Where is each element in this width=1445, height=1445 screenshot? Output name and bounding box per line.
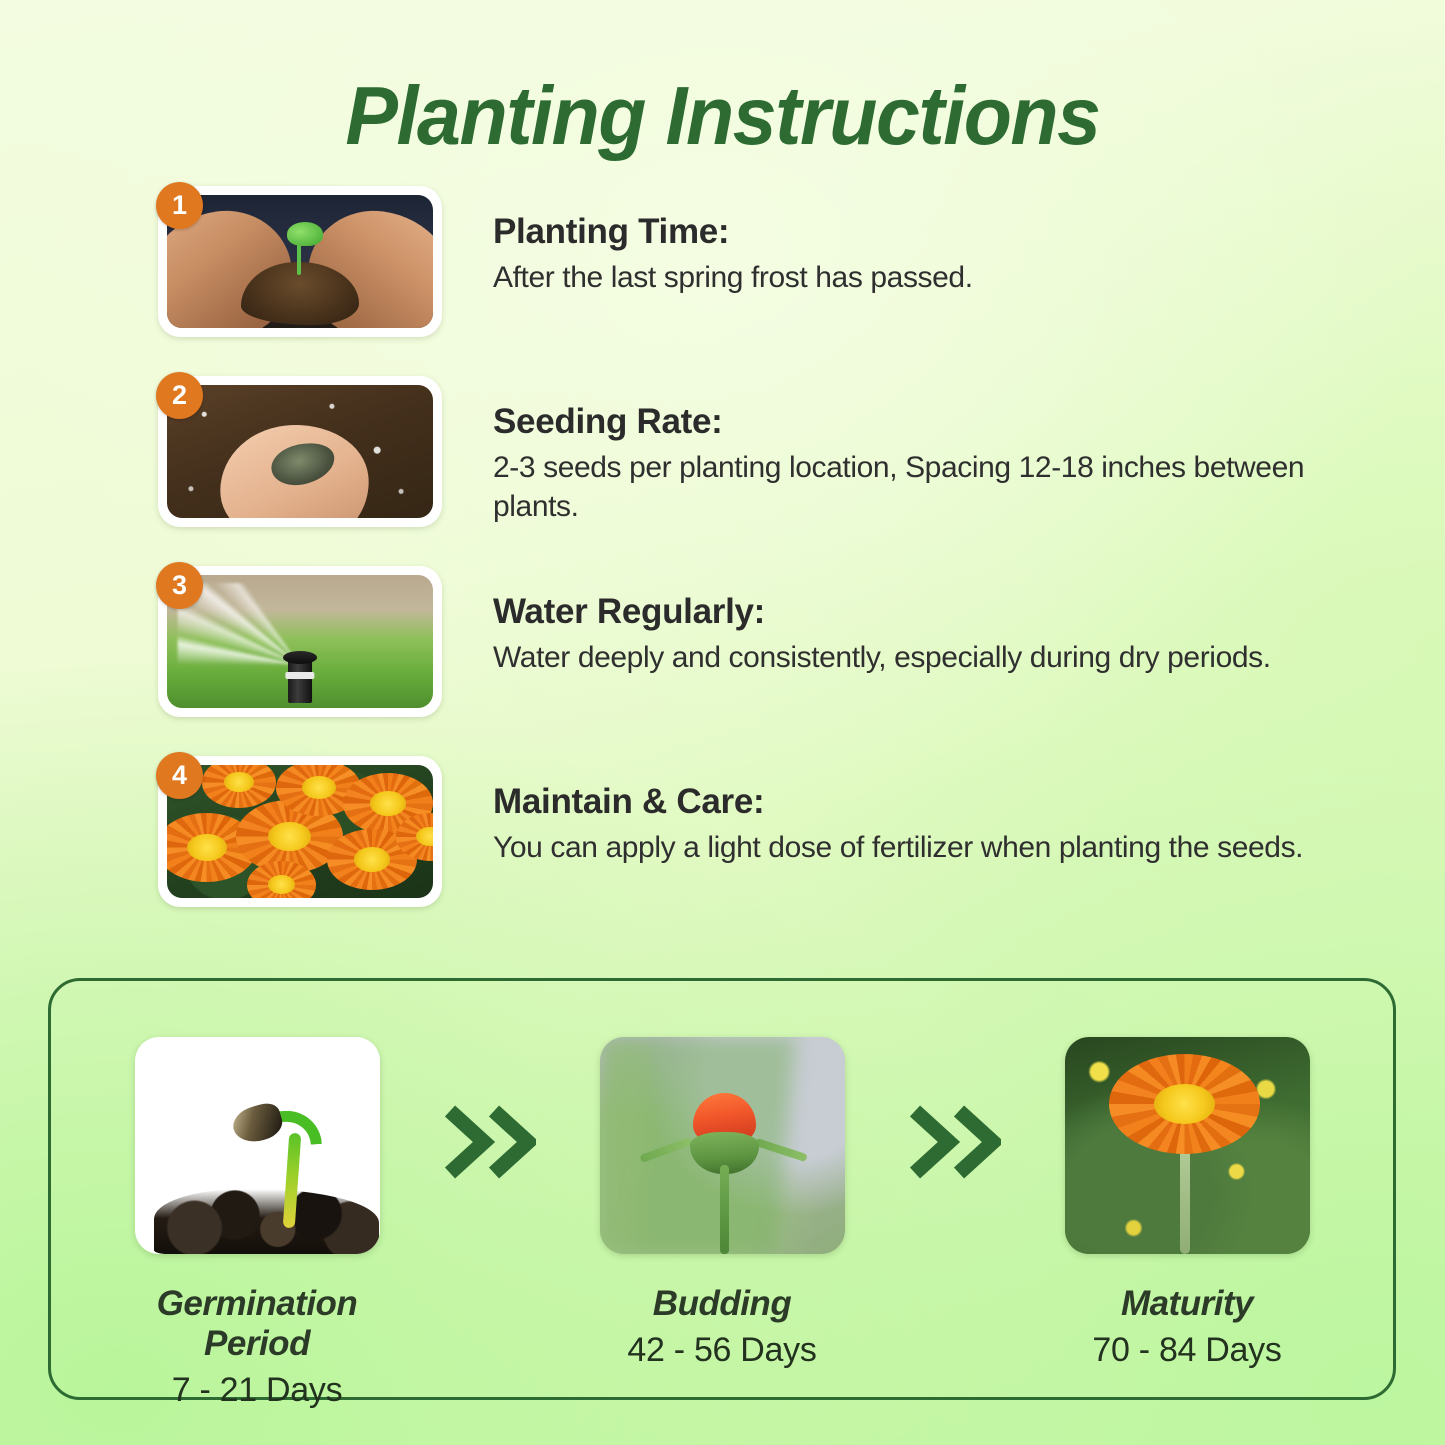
growth-timeline-panel: Germination Period 7 - 21 Days <box>48 978 1396 1400</box>
double-chevron-right-icon <box>440 1105 540 1179</box>
step-thumbnail-2: 2 <box>158 376 442 527</box>
step-number-badge: 4 <box>156 752 203 799</box>
timeline-stage-maturity: Maturity 70 - 84 Days <box>1037 1037 1337 1370</box>
open-orange-flower-photo <box>1065 1037 1310 1254</box>
stage-label: Germination Period <box>107 1284 407 1364</box>
step-heading: Maintain & Care: <box>493 782 1365 822</box>
step-item: 1 Planting Time: After the last spring f… <box>0 186 1445 376</box>
step-thumbnail-3: 3 <box>158 566 442 717</box>
step-number-badge: 3 <box>156 562 203 609</box>
stage-days: 42 - 56 Days <box>572 1331 872 1370</box>
orange-flowers-bed-photo <box>167 765 433 898</box>
step-thumbnail-1: 1 <box>158 186 442 337</box>
lawn-sprinkler-spraying-water-photo <box>167 575 433 708</box>
step-item: 2 Seeding Rate: 2-3 seeds per planting l… <box>0 376 1445 566</box>
page-title: Planting Instructions <box>36 74 1409 157</box>
stage-days: 70 - 84 Days <box>1037 1331 1337 1370</box>
step-item: 4 Maintain & Care: You can apply a light… <box>0 756 1445 946</box>
stage-label: Maturity <box>1037 1284 1337 1324</box>
step-text-block: Maintain & Care: You can apply a light d… <box>493 782 1365 867</box>
growth-timeline: Germination Period 7 - 21 Days <box>51 981 1393 1397</box>
step-heading: Water Regularly: <box>493 592 1365 632</box>
step-text-block: Planting Time: After the last spring fro… <box>493 212 1365 297</box>
hands-holding-soil-with-seedling-photo <box>167 195 433 328</box>
step-thumbnail-4: 4 <box>158 756 442 907</box>
step-number-badge: 1 <box>156 182 203 229</box>
orange-flower-bud-photo <box>600 1037 845 1254</box>
sprouting-seed-in-soil-photo <box>135 1037 380 1254</box>
step-heading: Planting Time: <box>493 212 1365 252</box>
step-item: 3 Water Regularly: Water deeply and cons… <box>0 566 1445 756</box>
planting-steps-list: 1 Planting Time: After the last spring f… <box>0 186 1445 946</box>
double-chevron-right-icon <box>905 1105 1005 1179</box>
step-heading: Seeding Rate: <box>493 402 1365 442</box>
stage-days: 7 - 21 Days <box>107 1371 407 1410</box>
step-body: You can apply a light dose of fertilizer… <box>493 828 1365 867</box>
step-number-badge: 2 <box>156 372 203 419</box>
step-body: After the last spring frost has passed. <box>493 258 1365 297</box>
step-text-block: Water Regularly: Water deeply and consis… <box>493 592 1365 677</box>
hand-holding-seeds-over-soil-photo <box>167 385 433 518</box>
stage-label: Budding <box>572 1284 872 1324</box>
infographic-canvas: Planting Instructions 1 Planting Time: A… <box>0 0 1445 1445</box>
step-text-block: Seeding Rate: 2-3 seeds per planting loc… <box>493 402 1365 526</box>
timeline-stage-budding: Budding 42 - 56 Days <box>572 1037 872 1370</box>
step-body: Water deeply and consistently, especiall… <box>493 638 1365 677</box>
step-body: 2-3 seeds per planting location, Spacing… <box>493 448 1365 526</box>
timeline-stage-germination: Germination Period 7 - 21 Days <box>107 1037 407 1410</box>
